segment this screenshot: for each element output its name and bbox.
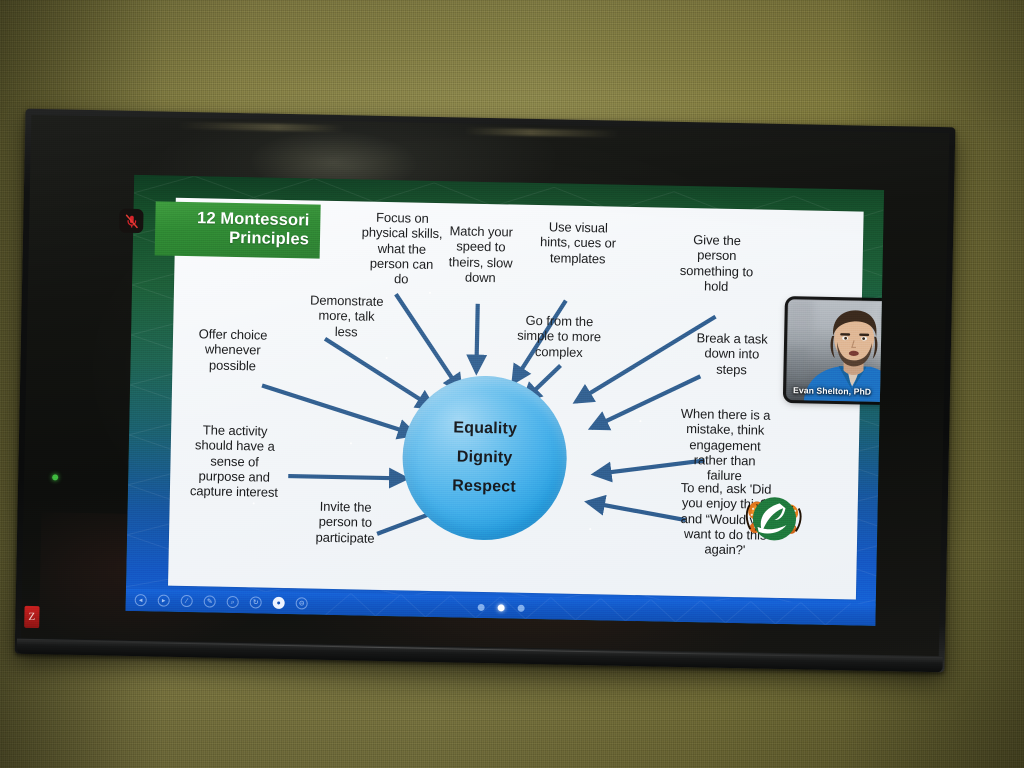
principle-simple-to-complex: Go from the simple to more complex — [503, 312, 616, 360]
principle-demonstrate-more: Demonstrate more, talk less — [293, 292, 400, 340]
tv-brand-logo: Z — [24, 606, 39, 628]
principle-break-task-down: Break a task down into steps — [680, 330, 783, 378]
room-scene: Equality Dignity Respect Focus on physic… — [0, 0, 1024, 768]
tv-screen-panel: Equality Dignity Respect Focus on physic… — [21, 115, 949, 656]
slide-dot-2[interactable] — [497, 604, 504, 611]
principles-diagram: Equality Dignity Respect Focus on physic… — [168, 198, 864, 600]
organization-logos — [714, 494, 835, 544]
principle-invite-participate: Invite the person to participate — [297, 498, 394, 546]
microphone-muted-icon[interactable] — [119, 209, 143, 233]
power-led-icon — [52, 474, 58, 480]
core-value-dignity: Dignity — [457, 448, 513, 467]
principle-offer-choice: Offer choice whenever possible — [180, 326, 285, 374]
slide-title: 12 Montessori Principles — [155, 201, 321, 259]
principle-use-visual-hints: Use visual hints, cues or templates — [523, 219, 634, 267]
slide-dot-1[interactable] — [477, 603, 484, 610]
participant-video-tile[interactable]: Evan Shelton, PhD — [786, 299, 884, 403]
principle-engagement-over-failure: When there is a mistake, think engagemen… — [664, 406, 786, 485]
core-value-equality: Equality — [453, 419, 517, 438]
principle-give-something-to-hold: Give the person something to hold — [664, 232, 769, 295]
slide-dot-3[interactable] — [517, 604, 524, 611]
principle-activity-purpose: The activity should have a sense of purp… — [172, 422, 298, 501]
presentation-slide: Equality Dignity Respect Focus on physic… — [126, 175, 885, 626]
wall-mounted-tv: Equality Dignity Respect Focus on physic… — [15, 109, 956, 673]
core-value-respect: Respect — [452, 477, 516, 496]
green-leaf-circle-icon — [714, 494, 835, 544]
participant-name-label: Evan Shelton, PhD — [793, 385, 871, 397]
principle-match-speed: Match your speed to theirs, slow down — [432, 223, 529, 286]
